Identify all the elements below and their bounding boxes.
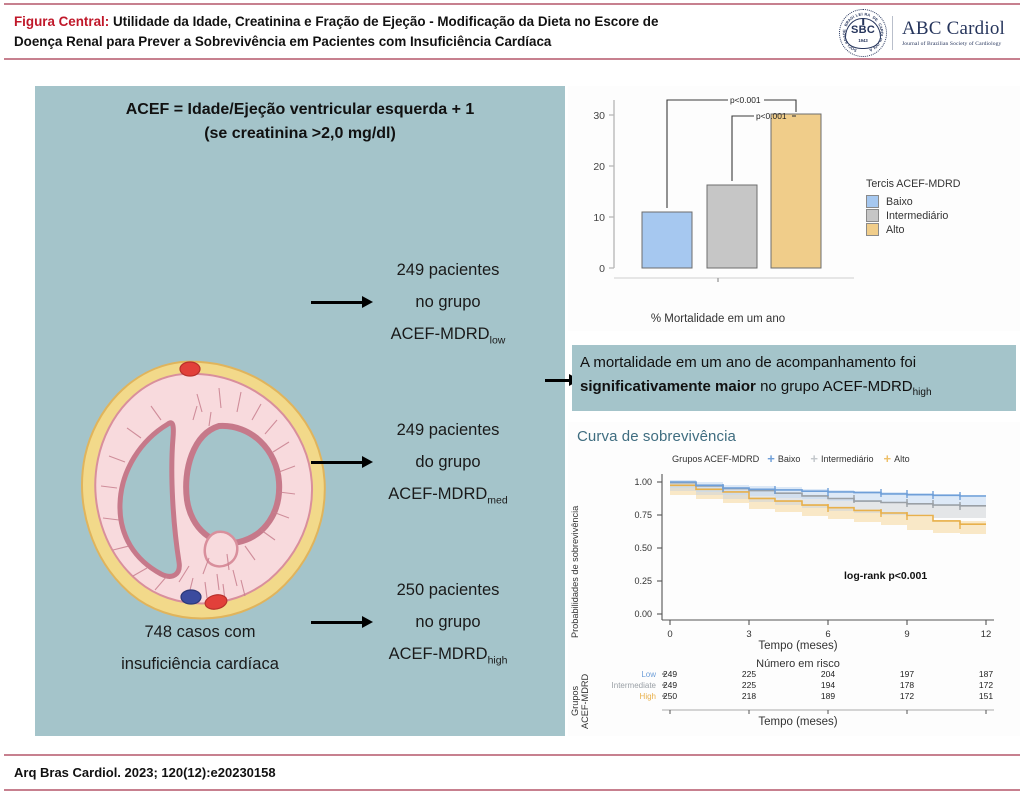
cases-line-2: insuficiência cardíaca: [121, 655, 279, 673]
acef-formula: ACEF = Idade/Ejeção ventricular esquerda…: [35, 98, 565, 146]
group-low-label: 249 pacientes no grupo ACEF-MDRDlow: [353, 254, 543, 351]
survival-legend-label-alto: Alto: [894, 454, 910, 464]
group-low-name: ACEF-MDRD: [391, 325, 490, 343]
sbc-seal-icon: SBC 1943 SOCIEDADE BRASILEIRA DE CARDIOL…: [838, 8, 888, 58]
risk-row-label-high: High: [640, 692, 656, 701]
risk-table-ylabel: Grupos ACEF-MDRD: [570, 672, 584, 730]
result-emphasis: significativamente maior: [580, 378, 756, 395]
group-med-middle: do grupo: [415, 453, 480, 471]
svg-text:p<0.001: p<0.001: [730, 95, 761, 105]
legend-swatch-intermediario-icon: [866, 209, 879, 222]
legend-item-intermediario: Intermediário: [866, 209, 1016, 222]
svg-text:172: 172: [979, 680, 993, 690]
result-callout: A mortalidade em um ano de acompanhament…: [572, 345, 1016, 411]
arrow-to-med-group-icon: [311, 456, 373, 468]
svg-text:0: 0: [667, 629, 672, 640]
svg-text:225: 225: [742, 680, 756, 690]
legend-label-alto: Alto: [886, 224, 904, 236]
bar-chart-svg: 0 10 20 30 p<0.001 p<0.001: [568, 86, 868, 301]
svg-text:151: 151: [979, 691, 993, 701]
group-high-count: 250 pacientes: [397, 581, 500, 599]
svg-text:249: 249: [663, 680, 677, 690]
plus-marker-baixo-icon: +: [767, 452, 775, 465]
result-tail-sub: high: [913, 387, 932, 398]
risk-table-xlabel: Tempo (meses): [628, 716, 968, 728]
figure-footer: Arq Bras Cardiol. 2023; 120(12):e2023015…: [4, 754, 1020, 791]
svg-text:172: 172: [900, 691, 914, 701]
legend-label-baixo: Baixo: [886, 196, 913, 208]
group-high-middle: no grupo: [415, 613, 480, 631]
survival-legend-item-baixo: + Baixo: [767, 452, 800, 465]
svg-text:250: 250: [663, 691, 677, 701]
result-line-1: A mortalidade em um ano de acompanhament…: [580, 354, 916, 371]
svg-text:1.00: 1.00: [634, 477, 652, 487]
survival-legend-label-intermediario: Intermediário: [821, 454, 874, 464]
svg-text:0: 0: [599, 263, 605, 275]
group-med-name: ACEF-MDRD: [388, 485, 487, 503]
formula-line-1: ACEF = Idade/Ejeção ventricular esquerda…: [126, 101, 475, 118]
title-line-2: Doença Renal para Prever a Sobrevivência…: [14, 34, 551, 49]
svg-text:p<0.001: p<0.001: [756, 111, 787, 121]
arrow-to-high-group-icon: [311, 616, 373, 628]
title-prefix: Figura Central:: [14, 14, 109, 29]
survival-legend: Grupos ACEF-MDRD + Baixo + Intermediário…: [672, 452, 1012, 465]
bar-chart-xlabel: % Mortalidade em um ano: [568, 313, 868, 325]
journal-name: ABC Cardiol: [902, 19, 1005, 39]
svg-text:9: 9: [904, 629, 909, 640]
bar-chart-legend: Tercis ACEF-MDRD Baixo Intermediário Alt…: [866, 178, 1016, 237]
group-med-count: 249 pacientes: [397, 421, 500, 439]
group-med-label: 249 pacientes do grupo ACEF-MDRDmed: [353, 414, 543, 511]
title-line-1: Utilidade da Idade, Creatinina e Fração …: [109, 14, 658, 29]
svg-text:12: 12: [981, 629, 992, 640]
plus-marker-alto-icon: +: [884, 452, 892, 465]
survival-legend-item-alto: + Alto: [884, 452, 910, 465]
svg-text:10: 10: [593, 212, 605, 224]
svg-text:0.00: 0.00: [634, 609, 652, 619]
svg-text:3: 3: [746, 629, 751, 640]
survival-panel-title: Curva de sobrevivência: [577, 428, 736, 445]
journal-logo: SBC 1943 SOCIEDADE BRASILEIRA DE CARDIOL…: [838, 7, 1014, 59]
svg-text:30: 30: [593, 110, 605, 122]
flow-panel: ACEF = Idade/Ejeção ventricular esquerda…: [35, 86, 565, 736]
legend-label-intermediario: Intermediário: [886, 210, 948, 222]
total-cases-label: 748 casos com insuficiência cardíaca: [85, 616, 315, 680]
legend-item-alto: Alto: [866, 223, 1016, 236]
group-high-label: 250 pacientes no grupo ACEF-MDRDhigh: [353, 574, 543, 671]
survival-ylabel: Probabilidades de sobrevivência: [570, 482, 584, 662]
group-med-sub: med: [487, 495, 507, 507]
survival-xlabel: Tempo (meses): [628, 640, 968, 652]
group-low-middle: no grupo: [415, 293, 480, 311]
heart-cross-section-illustration: [69, 354, 359, 629]
logo-divider: [892, 16, 893, 50]
legend-item-baixo: Baixo: [866, 195, 1016, 208]
risk-table-title: Número em risco: [628, 658, 968, 670]
figure-page: Figura Central: Utilidade da Idade, Crea…: [0, 0, 1024, 795]
legend-swatch-alto-icon: [866, 223, 879, 236]
svg-text:6: 6: [825, 629, 830, 640]
citation-text: Arq Bras Cardiol. 2023; 120(12):e2023015…: [14, 765, 276, 780]
logrank-annotation: log-rank p<0.001: [844, 570, 927, 582]
group-low-sub: low: [490, 335, 506, 347]
svg-text:194: 194: [821, 680, 835, 690]
svg-text:249: 249: [663, 670, 677, 679]
risk-table-svg: Low Intermediate High 249225204 197187 2…: [586, 670, 1006, 718]
arrow-to-low-group-icon: [311, 296, 373, 308]
svg-text:0.75: 0.75: [634, 510, 652, 520]
svg-text:0.25: 0.25: [634, 576, 652, 586]
legend-swatch-baixo-icon: [866, 195, 879, 208]
group-high-sub: high: [488, 655, 508, 667]
svg-text:20: 20: [593, 161, 605, 173]
cases-line-1: 748 casos com: [145, 623, 256, 641]
group-low-count: 249 pacientes: [397, 261, 500, 279]
figure-header: Figura Central: Utilidade da Idade, Crea…: [4, 3, 1020, 60]
plus-marker-intermediario-icon: +: [810, 452, 818, 465]
svg-text:197: 197: [900, 670, 914, 679]
survival-curve-panel: Curva de sobrevivência Grupos ACEF-MDRD …: [568, 422, 1020, 736]
risk-row-label-low: Low: [641, 670, 656, 679]
result-tail: no grupo ACEF-MDRD: [756, 378, 913, 395]
bar-legend-title: Tercis ACEF-MDRD: [866, 178, 1016, 190]
svg-text:187: 187: [979, 670, 993, 679]
km-plot-svg: 1.00 0.75 0.50 0.25 0.00 0 3 6 9 12: [586, 468, 1006, 643]
survival-legend-title: Grupos ACEF-MDRD: [672, 454, 759, 464]
group-high-name: ACEF-MDRD: [389, 645, 488, 663]
page-title: Figura Central: Utilidade da Idade, Crea…: [4, 12, 834, 51]
svg-text:0.50: 0.50: [634, 543, 652, 553]
survival-legend-label-baixo: Baixo: [778, 454, 801, 464]
survival-legend-item-intermediario: + Intermediário: [810, 452, 873, 465]
svg-text:178: 178: [900, 680, 914, 690]
svg-text:204: 204: [821, 670, 835, 679]
mortality-bar-chart: 0 10 20 30 p<0.001 p<0.001 % Mortalidade…: [568, 86, 1020, 331]
journal-subtitle: Journal of Brazilian Society of Cardiolo…: [902, 41, 1005, 47]
svg-text:225: 225: [742, 670, 756, 679]
sbc-seal-arc-text: SOCIEDADE BRASILEIRA DE CARDIOLOGIA: [838, 8, 888, 58]
formula-line-2: (se creatinina >2,0 mg/dl): [204, 125, 396, 142]
svg-text:218: 218: [742, 691, 756, 701]
risk-row-label-intermediate: Intermediate: [612, 681, 657, 690]
svg-text:189: 189: [821, 691, 835, 701]
